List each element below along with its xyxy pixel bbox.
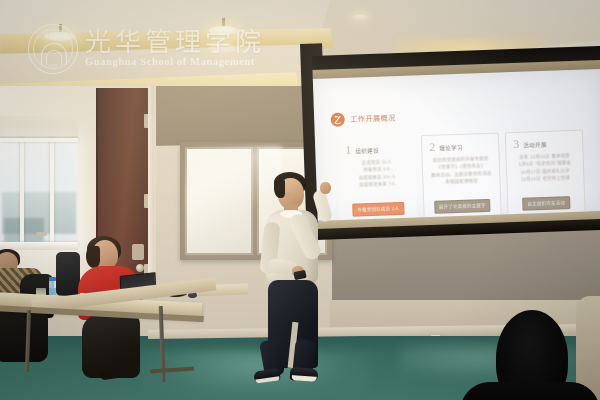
card-heading: 组织建设 [355,147,379,156]
audience-member-shoulders [460,382,600,400]
shoe [99,369,120,381]
card-line: 完成转党关系 7人 [359,181,397,188]
card-number: 3 [513,138,519,150]
card-button: 自主组织内生活动 [522,196,570,211]
skirt-and-legs [82,314,140,378]
card-line: 参观国家博物馆 [431,178,492,186]
hair-side [86,246,100,268]
slide-card: 1 组织建设 正式党员 31人 预备党员 2人 高成观察员 20+人 完成转党关… [337,135,418,224]
lap [0,310,48,362]
lamp-disc [208,44,238,53]
presenter-right-shoe [290,367,319,382]
card-button: 外籍党团队成员 2人 [352,202,404,217]
card-body: 配合院党委组织开展专题党 《党章学》《建党伟业》 集体活动、主题文教党的活动 参… [430,156,491,186]
card-number: 1 [345,144,351,156]
lecture-hall-photo: 工作开展概况 1 组织建设 正式党员 31人 预备党员 2人 高成观察员 20+… [0,0,600,400]
window-rail [0,138,78,142]
slide-card: 2 理论学习 配合院党委组织开展专题党 《党章学》《建党伟业》 集体活动、主题文… [421,133,502,222]
recessed-downlight [352,14,368,20]
presenter-hair-side [274,180,285,198]
whiteboard-panel-left [185,147,253,255]
door-frame [148,86,154,288]
window-mullion [20,138,24,246]
card-body: 正式党员 31人 预备党员 2人 高成观察员 20+人 完成转党关系 7人 [358,159,396,189]
ceiling-pendant-lamp [44,24,76,44]
presenter-pointing-hand [320,182,331,194]
party-emblem-icon [330,112,346,128]
lamp-disc [208,26,238,35]
card-line: 5月9日 "校史校风"观摩会 [519,160,571,168]
card-line: 高成观察员 20+人 [358,174,396,181]
card-header: 1 组织建设 [345,143,379,156]
window-mullion [50,138,54,246]
presenter-standing-at-screen [252,172,340,394]
screen-surface: 工作开展概况 1 组织建设 正式党员 31人 预备党员 2人 高成观察员 20+… [313,69,600,221]
window-shade[interactable] [0,116,78,138]
office-chair [56,252,80,296]
card-line: 12月23日 老党师上党课 [519,175,571,183]
ceiling-pendant-lamp-reflection [208,36,238,50]
slide-title: 工作开展概况 [350,113,396,125]
bottle-cap [49,277,56,281]
window-handle[interactable] [36,232,47,236]
slide-card: 3 活动开展 去年 12月23日 集体观影 5月9日 "校史校风"观摩会 10月… [505,130,586,219]
lamp-disc [44,32,76,41]
card-heading: 理论学习 [439,144,463,153]
card-number: 2 [429,141,435,153]
presenter-ear [285,192,290,199]
card-header: 3 活动开展 [513,137,547,150]
card-body: 去年 12月23日 集体观影 5月9日 "校史校风"观摩会 10月17日 国庆观… [518,153,571,183]
window-outside-building [4,218,44,242]
card-header: 2 理论学习 [429,140,463,153]
ceiling-pendant-lamp [208,18,238,37]
presenter-left-shoe [253,368,280,384]
projection-screen: 工作开展概况 1 组织建设 正式党员 31人 预备党员 2人 高成观察员 20+… [312,46,600,252]
slide-cards: 1 组织建设 正式党员 31人 预备党员 2人 高成观察员 20+人 完成转党关… [331,129,592,224]
card-button: 展开了论高质的主题学 [434,199,491,214]
card-line: 正式党员 31人 [358,159,396,166]
card-heading: 活动开展 [523,141,547,150]
card-line: 预备党员 2人 [358,167,396,174]
slide-header: 工作开展概况 [330,103,588,127]
window-glass [0,138,78,246]
bottle-label [49,288,56,295]
